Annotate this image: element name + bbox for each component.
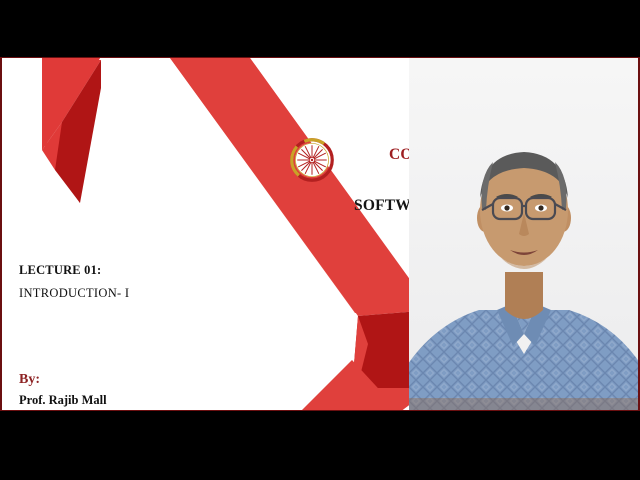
presenter-by-label: By: — [19, 372, 252, 388]
lecture-slide: IIT KGP COURSE NAME : SOFTWARE ENGINEERI… — [0, 57, 640, 411]
letterbox-bottom — [0, 411, 640, 480]
lecture-info-block: LECTURE 01: INTRODUCTION- I — [19, 263, 129, 301]
presenter-video-image — [409, 58, 638, 411]
presenter-info-block: By: Prof. Rajib Mall Department of Compu… — [19, 372, 252, 411]
nptel-logo — [289, 137, 335, 183]
presenter-video-inset — [409, 58, 638, 411]
lecture-topic: INTRODUCTION- I — [19, 286, 129, 301]
presenter-name: Prof. Rajib Mall — [19, 393, 252, 408]
video-player-stage: IIT KGP COURSE NAME : SOFTWARE ENGINEERI… — [0, 0, 640, 480]
letterbox-top — [0, 0, 640, 57]
lecture-number: LECTURE 01: — [19, 263, 129, 278]
presenter-department: Department of Computer Science and Engin… — [19, 409, 252, 411]
